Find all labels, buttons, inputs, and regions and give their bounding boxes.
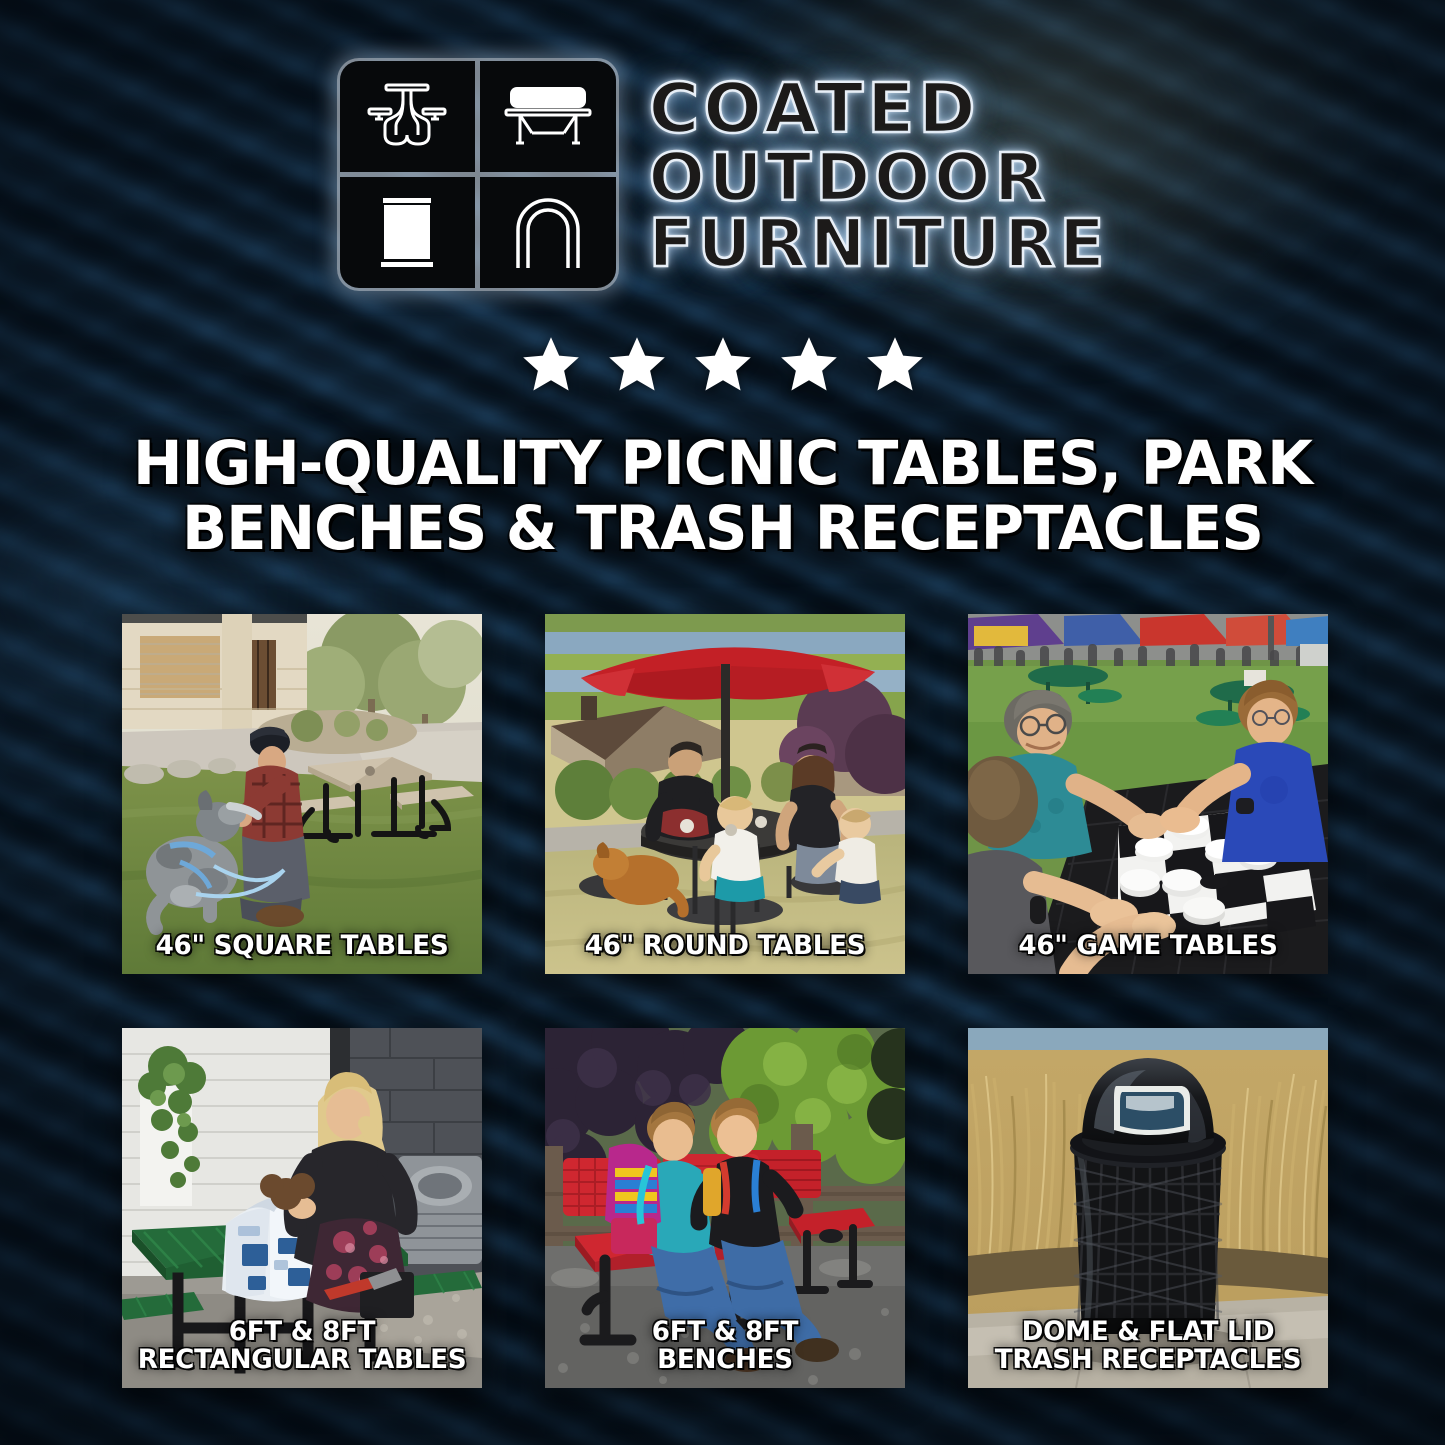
- headline-line-2: BENCHES & TRASH RECEPTACLES: [22, 497, 1424, 562]
- product-tile-game-tables[interactable]: 46" GAME TABLES: [968, 614, 1328, 974]
- product-tile-trash-receptacles[interactable]: DOME & FLAT LID TRASH RECEPTACLES: [968, 1028, 1328, 1388]
- caption-line-1: 46" GAME TABLES: [979, 932, 1317, 960]
- logo-line-furniture: FURNITURE: [649, 212, 1109, 277]
- caption-line-2: BENCHES: [556, 1346, 894, 1374]
- product-tile-round-tables[interactable]: 46" ROUND TABLES: [545, 614, 905, 974]
- promotional-poster: COATED OUTDOOR FURNITURE HIGH-QUALITY PI…: [0, 0, 1445, 1445]
- logo-line-outdoor: OUTDOOR: [649, 146, 1109, 211]
- tile-caption: 6FT & 8FT BENCHES: [550, 1318, 899, 1374]
- product-photo-square-tables: [122, 614, 482, 974]
- star-icon: [776, 333, 842, 396]
- logo-wordmark: COATED OUTDOOR FURNITURE: [649, 72, 1109, 277]
- product-tile-rectangular-tables[interactable]: 6FT & 8FT RECTANGULAR TABLES: [122, 1028, 482, 1388]
- headline-line-1: HIGH-QUALITY PICNIC TABLES, PARK: [22, 432, 1424, 497]
- caption-line-1: DOME & FLAT LID: [979, 1318, 1317, 1346]
- picnic-table-side-icon: [480, 61, 616, 172]
- brand-logo: COATED OUTDOOR FURNITURE: [0, 58, 1445, 291]
- logo-icon-grid: [337, 58, 619, 291]
- product-photo-game-tables: [968, 614, 1328, 974]
- tile-caption: DOME & FLAT LID TRASH RECEPTACLES: [973, 1318, 1322, 1374]
- tile-caption: 46" SQUARE TABLES: [127, 932, 476, 960]
- tile-caption: 46" GAME TABLES: [973, 932, 1322, 960]
- product-tile-square-tables[interactable]: 46" SQUARE TABLES: [122, 614, 482, 974]
- star-icon: [604, 333, 670, 396]
- caption-line-1: 6FT & 8FT: [556, 1318, 894, 1346]
- star-icon: [862, 333, 928, 396]
- star-icon: [690, 333, 756, 396]
- bike-rack-arch-icon: [480, 177, 616, 288]
- caption-line-1: 46" SQUARE TABLES: [133, 932, 471, 960]
- product-photo-round-tables: [545, 614, 905, 974]
- trash-receptacle-icon: [340, 177, 476, 288]
- star-rating: [0, 333, 1445, 396]
- caption-line-1: 6FT & 8FT: [133, 1318, 471, 1346]
- star-icon: [518, 333, 584, 396]
- tile-caption: 6FT & 8FT RECTANGULAR TABLES: [127, 1318, 476, 1374]
- page-title: HIGH-QUALITY PICNIC TABLES, PARK BENCHES…: [22, 432, 1424, 561]
- caption-line-2: TRASH RECEPTACLES: [979, 1346, 1317, 1374]
- logo-line-coated: COATED: [649, 76, 1109, 144]
- caption-line-1: 46" ROUND TABLES: [556, 932, 894, 960]
- tile-caption: 46" ROUND TABLES: [550, 932, 899, 960]
- product-tile-benches[interactable]: 6FT & 8FT BENCHES: [545, 1028, 905, 1388]
- caption-line-2: RECTANGULAR TABLES: [133, 1346, 471, 1374]
- picnic-table-front-icon: [340, 61, 476, 172]
- product-tile-grid: 46" SQUARE TABLES: [122, 614, 1325, 1388]
